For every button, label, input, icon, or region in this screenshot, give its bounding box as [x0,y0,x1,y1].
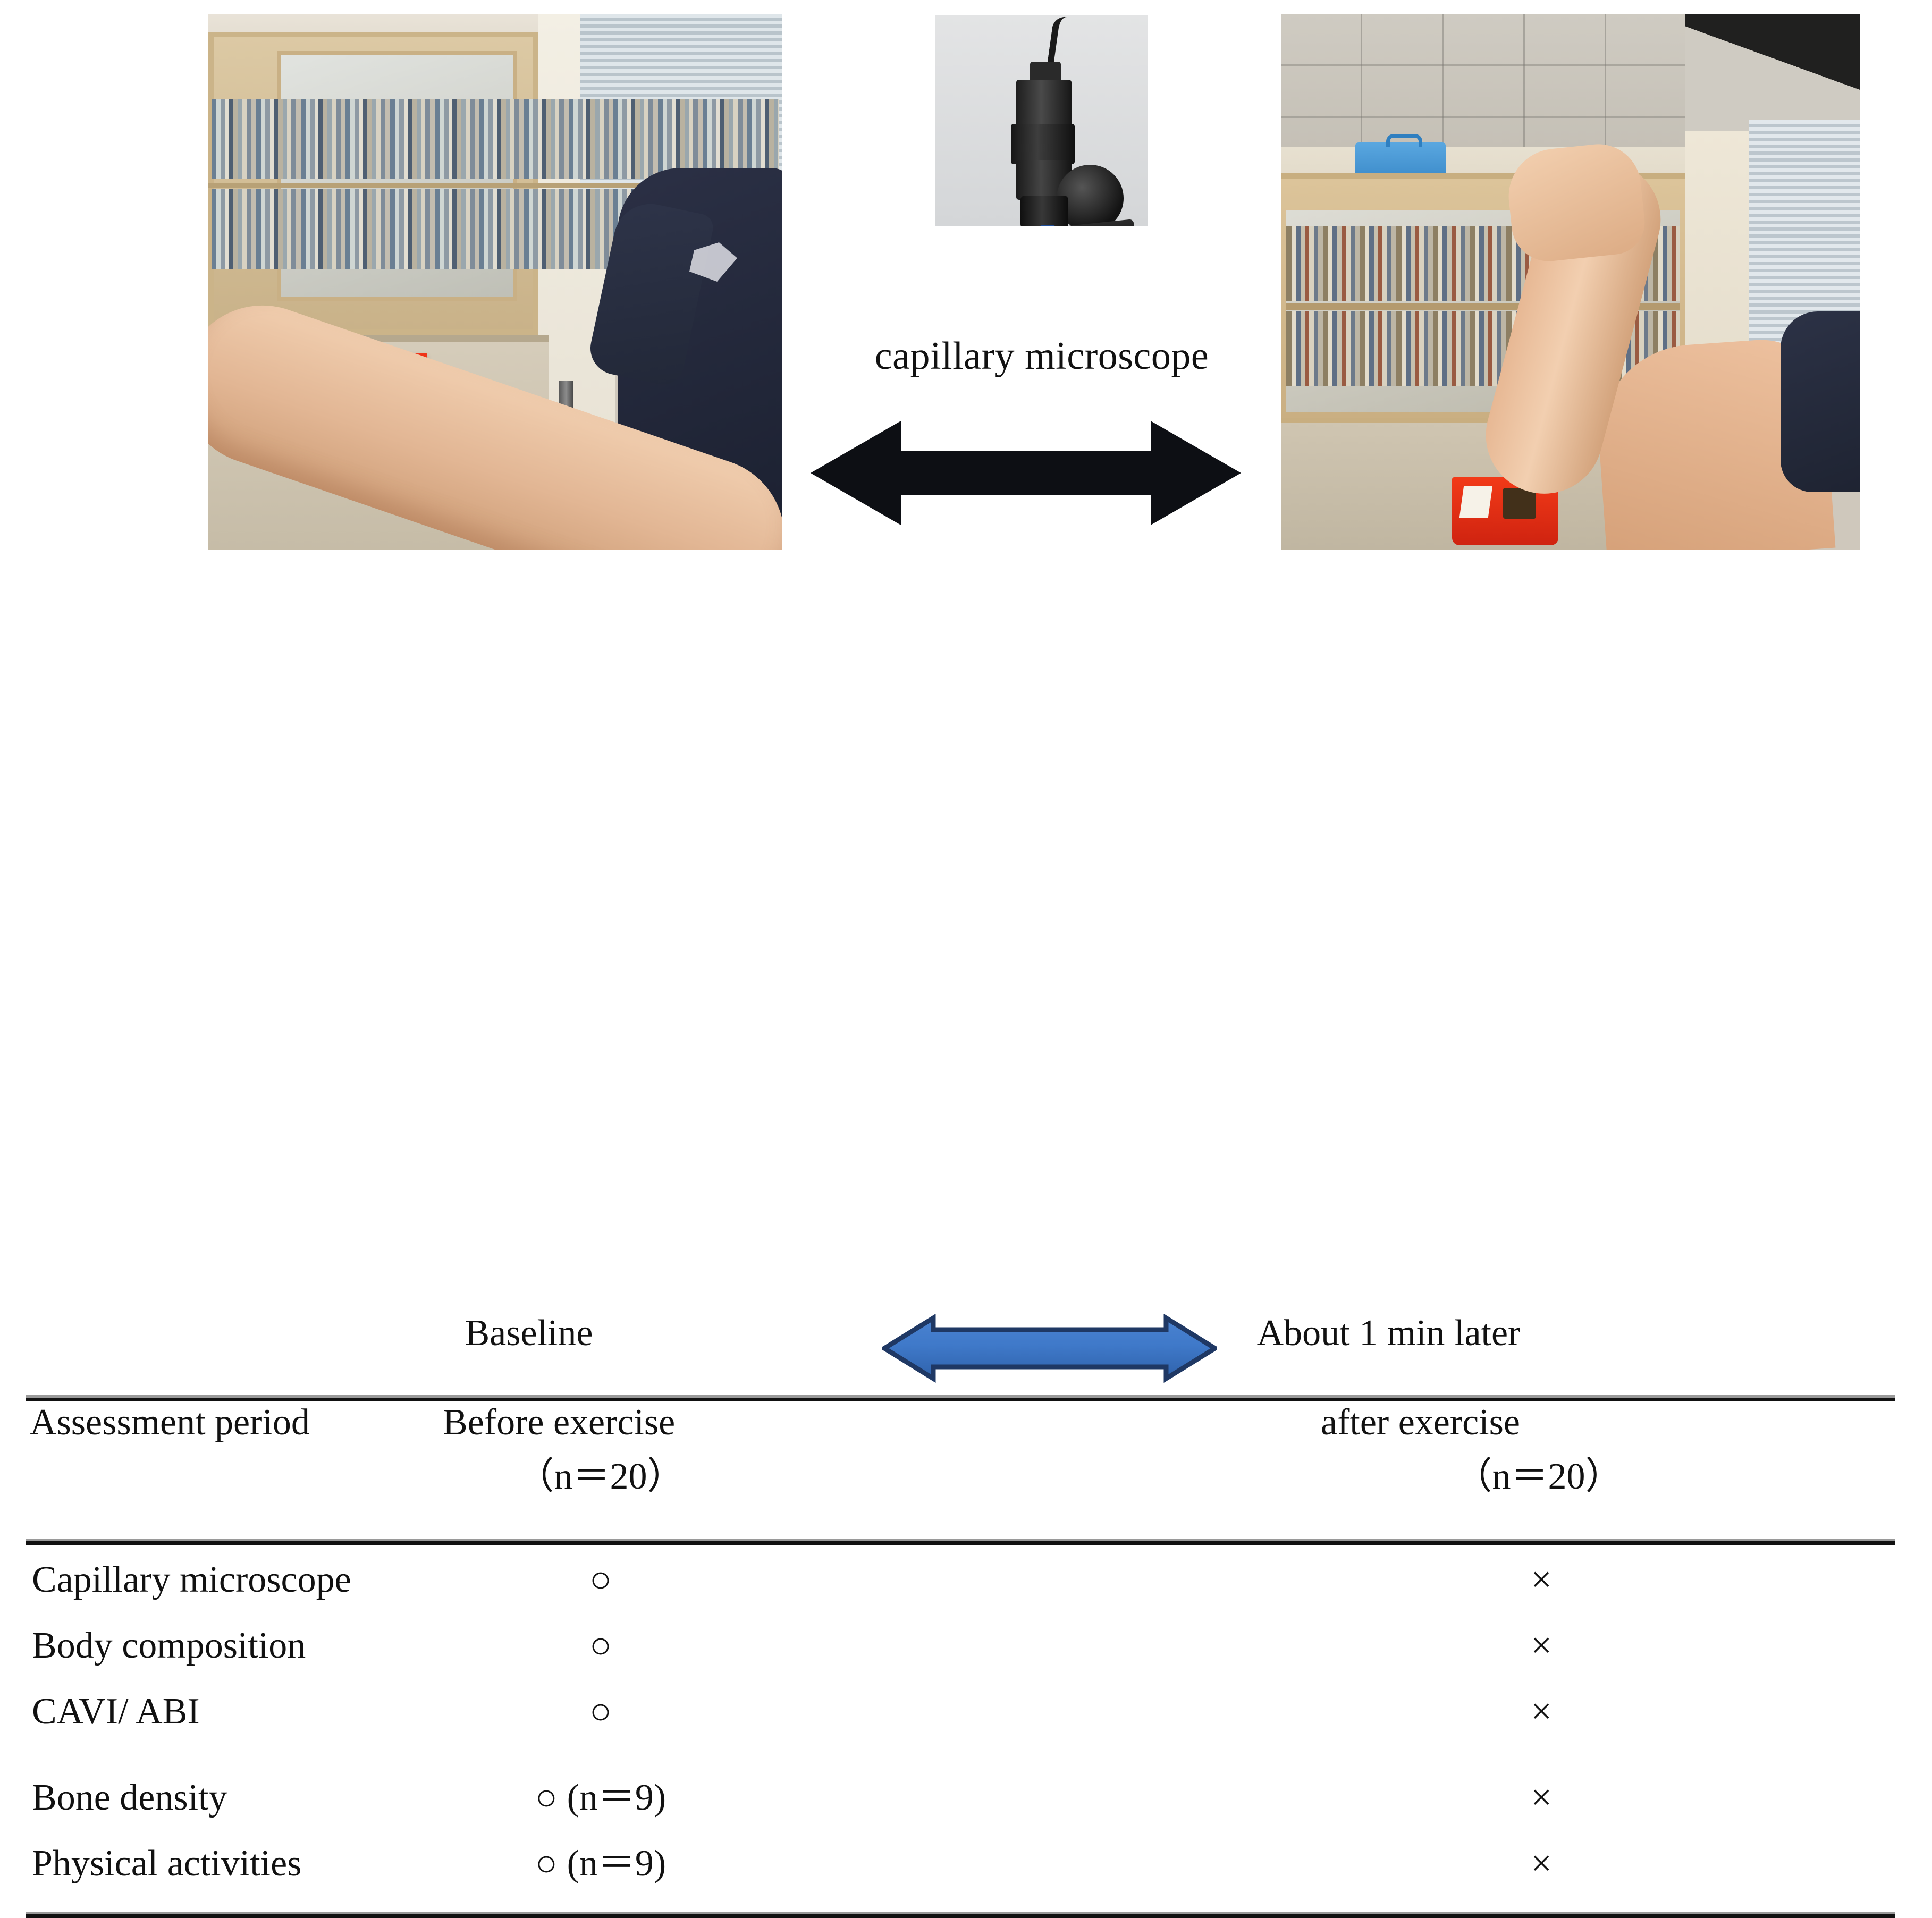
arm-extended-scene [208,14,782,550]
header-after-exercise: after exercise [1276,1404,1565,1441]
table-row: Bone density ○ (n＝9) × [0,1779,1932,1842]
microscope-blue-knob [1040,225,1056,226]
row-value-before: ○ [462,1693,739,1730]
figure-photo-row: capillary microscope [0,0,1932,595]
row-label: Capillary microscope [32,1561,351,1599]
row-value-after: × [1403,1779,1680,1816]
microscope-caption: capillary microscope [808,334,1276,379]
table-rule-bottom [26,1914,1895,1918]
column-header-later: About 1 min later [1222,1315,1555,1352]
book-shelf-row [212,99,779,179]
row-label: Body composition [32,1627,306,1664]
row-value-after: × [1403,1627,1680,1664]
table-row: CAVI/ ABI ○ × [0,1693,1932,1756]
dark-beam [1685,14,1860,136]
table-rule-top [26,1398,1895,1401]
row-value-before: ○ (n＝9) [462,1779,739,1816]
row-label: Physical activities [32,1845,301,1882]
blue-double-arrow [882,1314,1217,1383]
header-before-n: （n＝20） [444,1458,757,1495]
black-double-arrow [811,409,1241,537]
row-value-before: ○ (n＝9) [462,1845,739,1882]
table-row: Physical activities ○ (n＝9) × [0,1845,1932,1908]
table-row: Capillary microscope ○ × [0,1561,1932,1624]
row-value-after: × [1403,1845,1680,1882]
header-before-exercise: Before exercise [443,1404,675,1441]
capillary-microscope-photo [935,15,1148,226]
header-after-n: （n＝20） [1382,1458,1695,1495]
microscope-barrel-upper [1016,80,1072,129]
arm-flexed-scene [1281,14,1860,550]
arm-flexed-photo [1281,14,1860,550]
row-label: Bone density [32,1779,227,1816]
microscope-barrel-mid [1011,124,1075,164]
row-label: CAVI/ ABI [32,1693,200,1730]
row-value-before: ○ [462,1627,739,1664]
table-row: Body composition ○ × [0,1627,1932,1690]
microscope-lens [1020,196,1068,226]
row-value-after: × [1403,1561,1680,1599]
column-header-baseline: Baseline [372,1315,686,1352]
row-value-after: × [1403,1693,1680,1730]
row-header-assessment-period: Assessment period [30,1404,310,1441]
arm-extended-photo [208,14,782,550]
shirt-sleeve [1781,311,1860,492]
row-value-before: ○ [462,1561,739,1599]
table-rule-middle [26,1541,1895,1545]
assessment-table: Baseline About 1 min later Assessment pe… [0,632,1932,1332]
